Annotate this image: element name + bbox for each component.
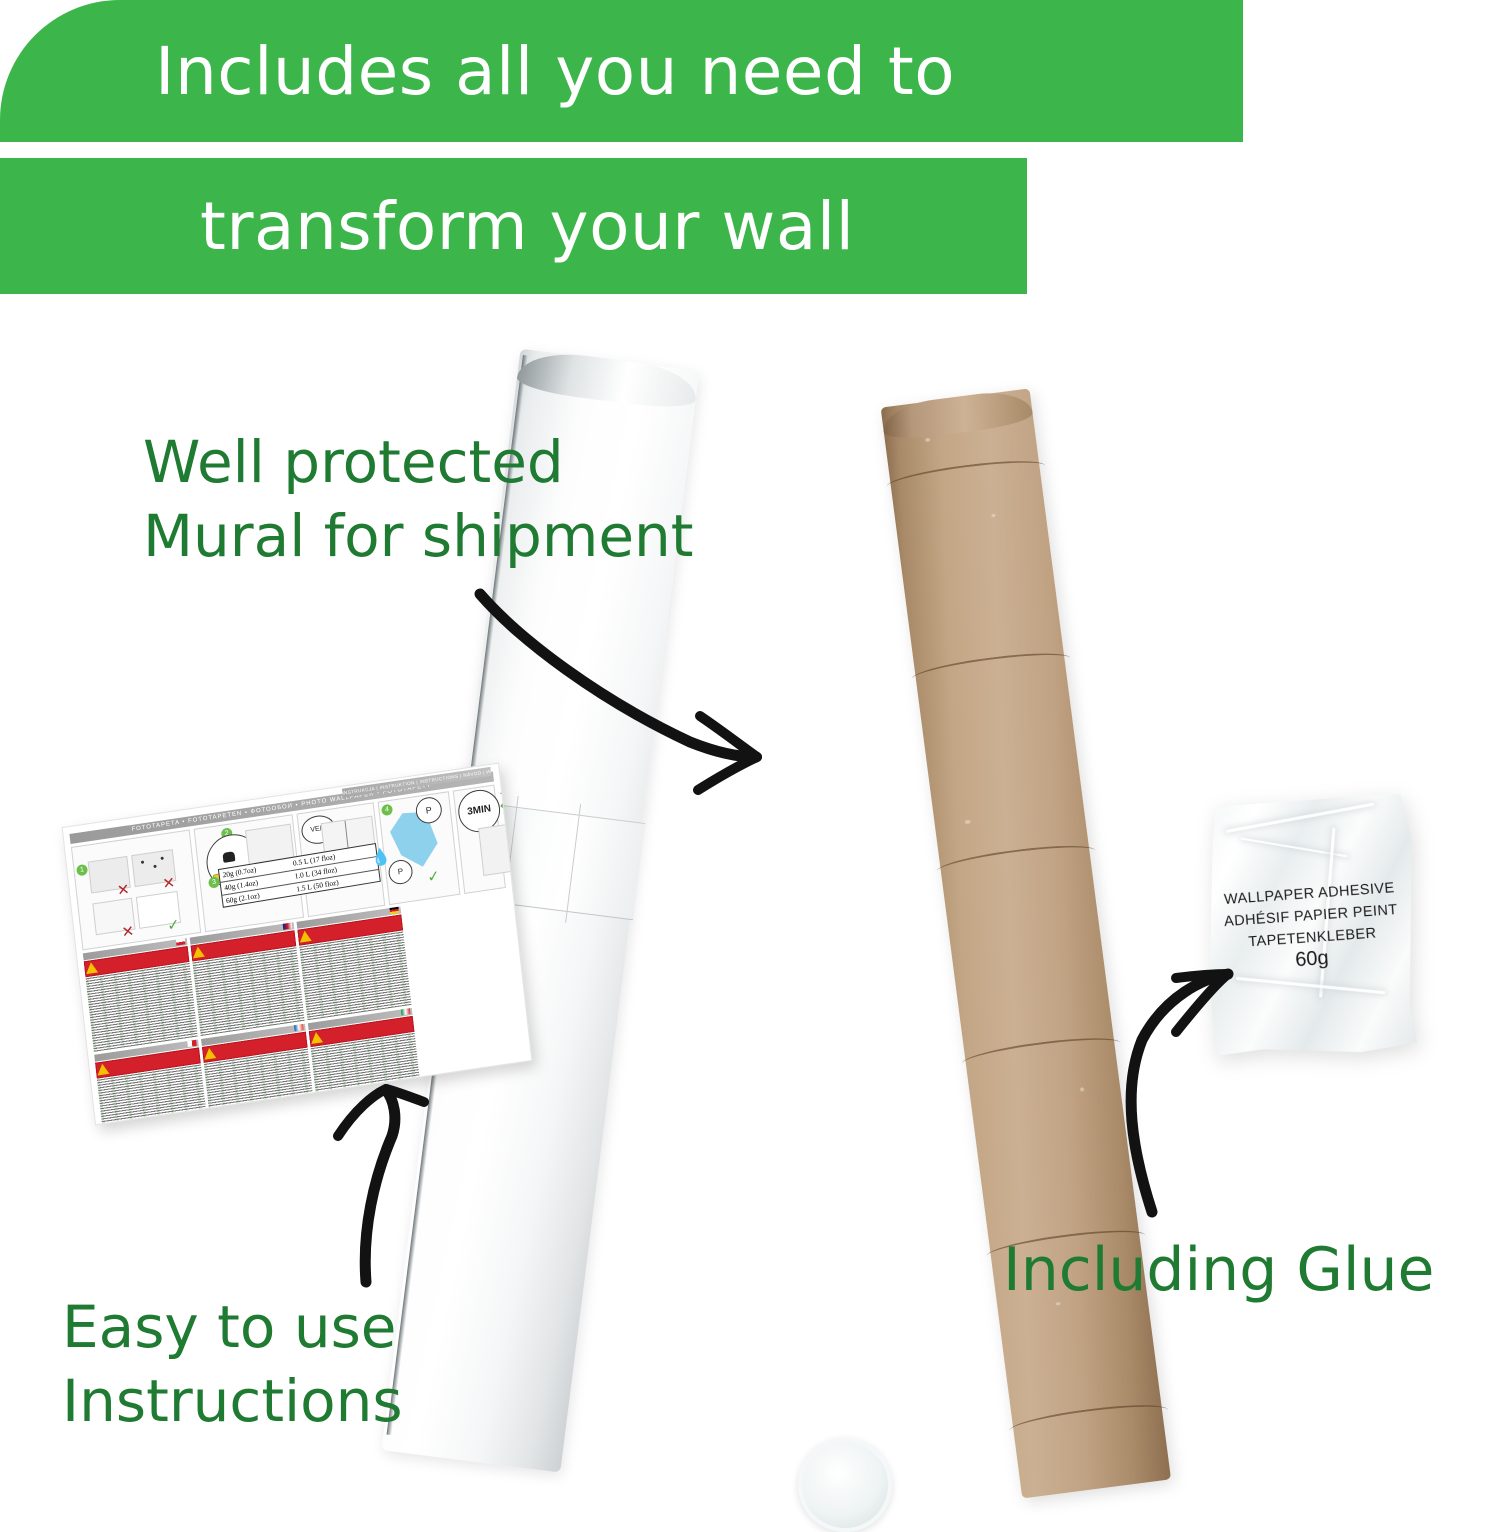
label-easy-instructions: Easy to use Instructions — [62, 1290, 403, 1438]
label-including-glue: Including Glue — [1003, 1232, 1434, 1309]
arrow-to-instructions — [338, 1089, 424, 1282]
label-well-protected: Well protected Mural for shipment — [143, 425, 694, 573]
arrow-to-glue — [1131, 974, 1228, 1212]
arrow-to-tube — [480, 594, 757, 790]
